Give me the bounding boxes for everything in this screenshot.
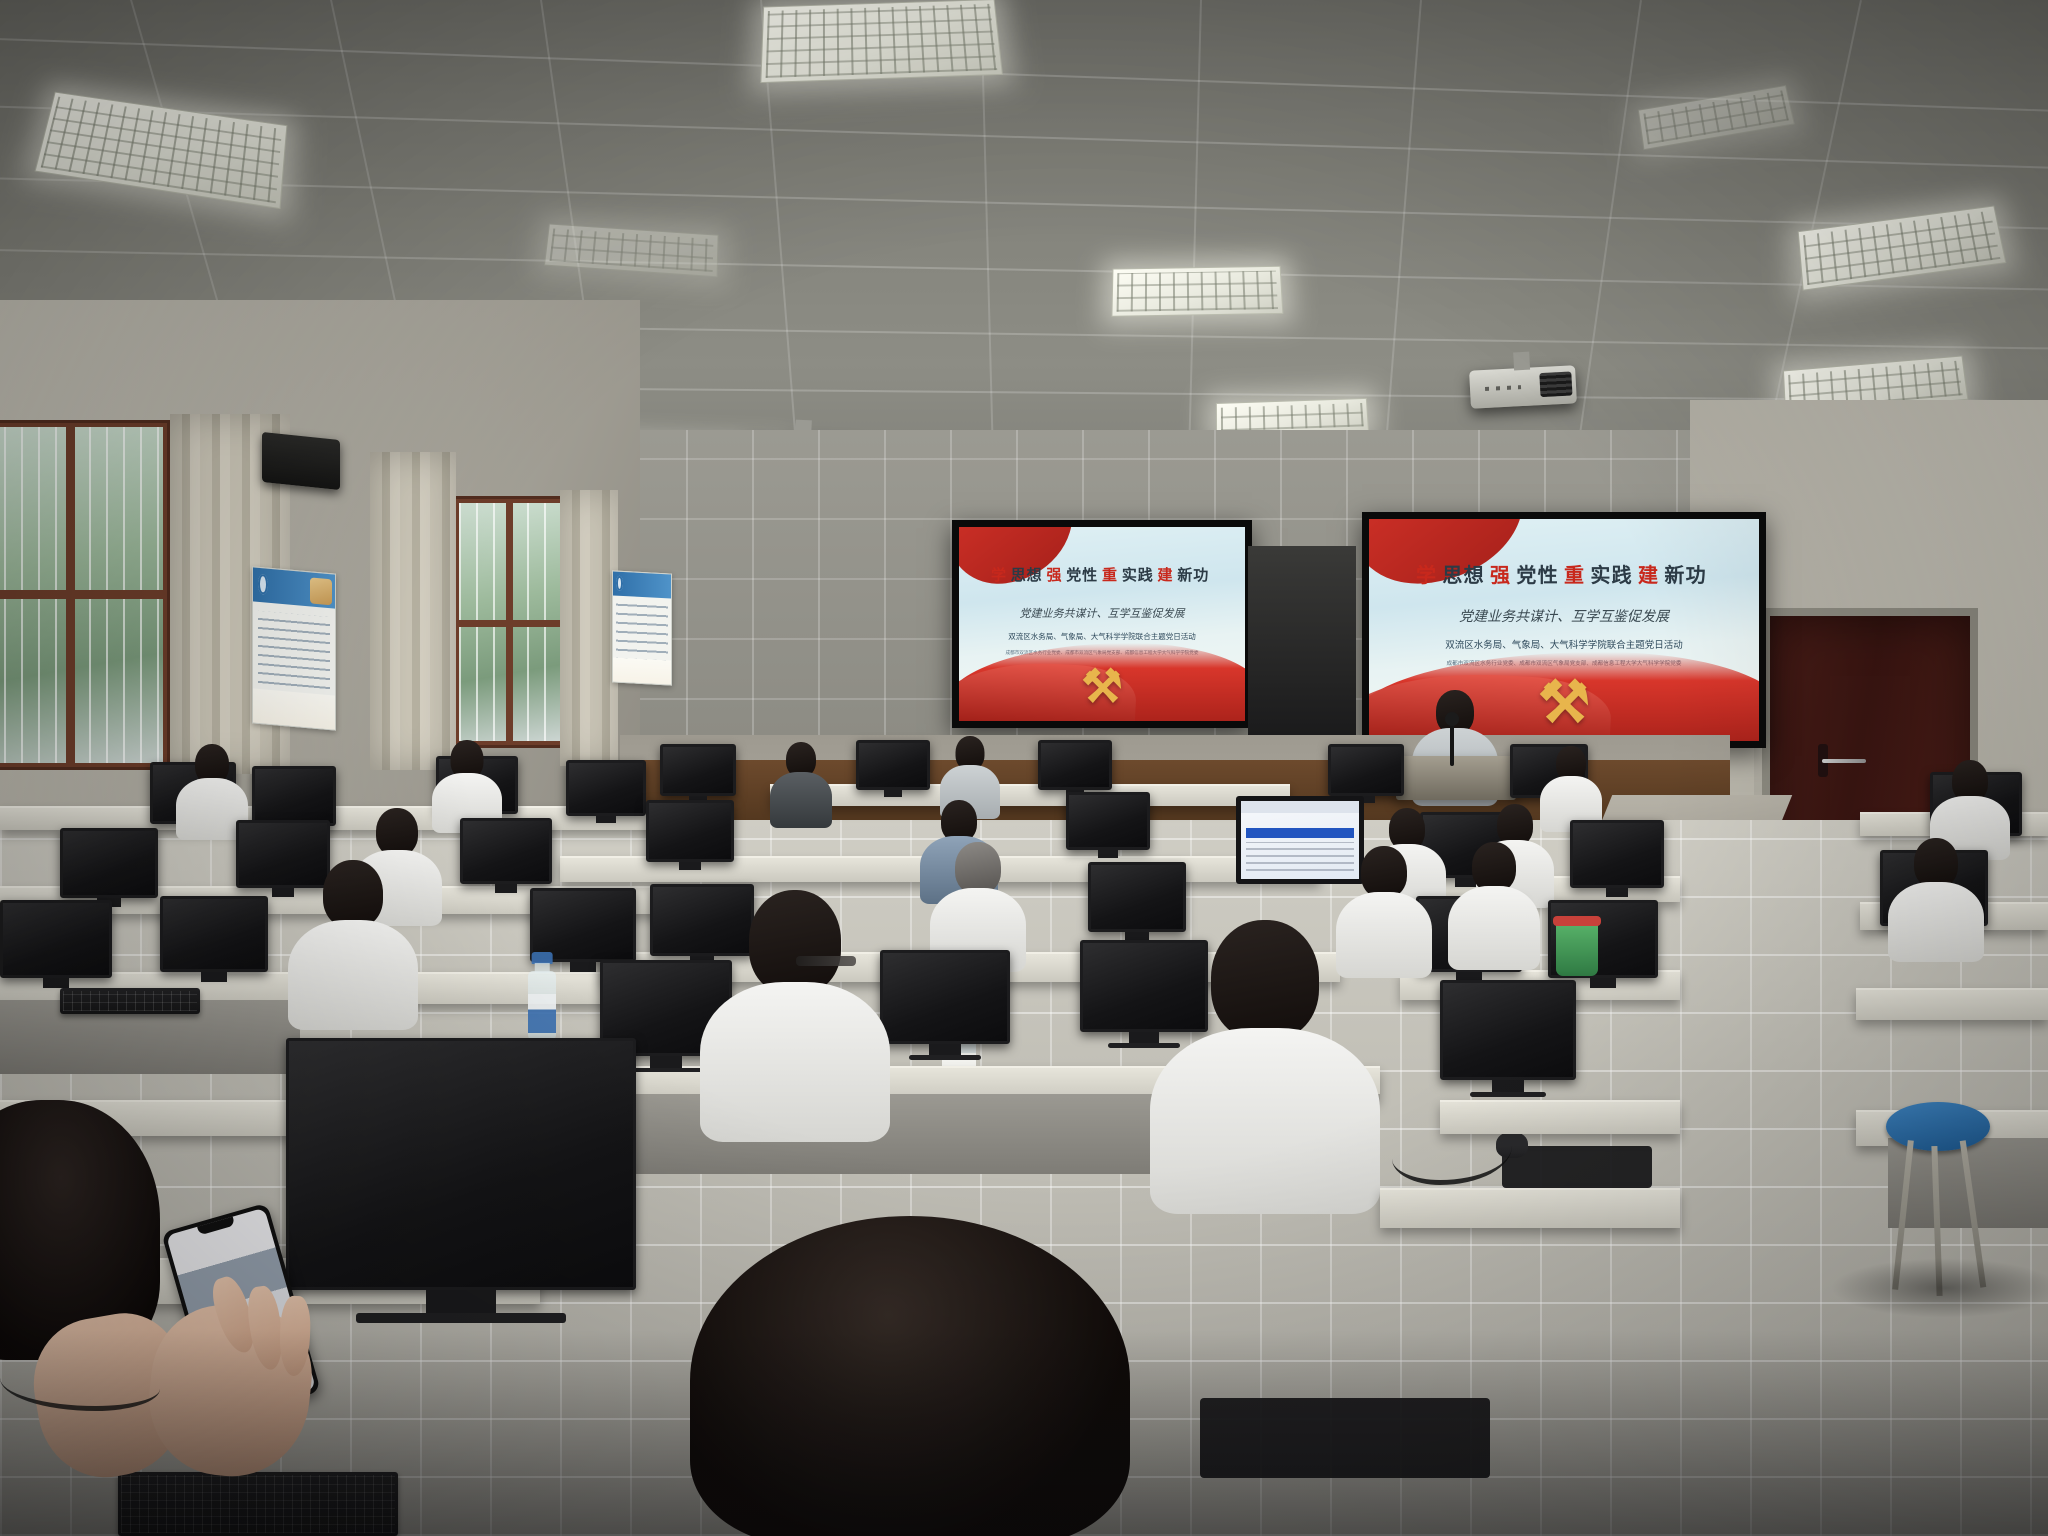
wall-poster bbox=[252, 566, 336, 730]
attendee bbox=[1888, 838, 1984, 954]
water-bottle bbox=[528, 952, 556, 1040]
headline-part-3: 党性 bbox=[1516, 563, 1558, 587]
monitor bbox=[1570, 820, 1664, 888]
monitor bbox=[460, 818, 552, 884]
attendee bbox=[700, 890, 890, 1130]
curtain bbox=[370, 452, 456, 770]
desk-row bbox=[1856, 988, 2048, 1020]
wall-speaker bbox=[262, 432, 340, 490]
monitor bbox=[286, 1038, 636, 1290]
monitor bbox=[1066, 792, 1150, 850]
headline-part-1: 思想 bbox=[1011, 566, 1043, 584]
microphone-head-icon bbox=[1445, 712, 1459, 726]
slide-left: 学 思想 强 党性 重 实践 建 新功 党建业务共谋计、互学互鉴促发展 双流区水… bbox=[959, 527, 1245, 721]
party-emblem-icon: ⚒ bbox=[1081, 663, 1122, 709]
headline-part-4: 重 bbox=[1102, 566, 1118, 584]
slide-calligraphy: 党建业务共谋计、互学互鉴促发展 bbox=[1369, 606, 1759, 626]
monitor bbox=[880, 950, 1010, 1044]
headline-part-5: 实践 bbox=[1122, 566, 1154, 584]
monitor bbox=[1328, 744, 1404, 796]
monitor bbox=[0, 900, 112, 978]
headline-part-5: 实践 bbox=[1590, 563, 1632, 587]
stool-seat bbox=[1886, 1102, 1990, 1151]
ceiling-projector bbox=[1469, 365, 1577, 408]
classroom-photo-scene: 学 思想 强 党性 重 实践 建 新功 党建业务共谋计、互学互鉴促发展 双流区水… bbox=[0, 0, 2048, 1536]
slide-calligraphy: 党建业务共谋计、互学互鉴促发展 bbox=[959, 605, 1245, 621]
headline-part-0: 学 bbox=[1416, 563, 1437, 587]
slide-event-line: 双流区水务局、气象局、大气科学学院联合主题党日活动 bbox=[1369, 637, 1759, 651]
attendee bbox=[288, 860, 418, 1020]
desk-row bbox=[1380, 1188, 1680, 1228]
floor-shadow bbox=[1830, 1258, 2048, 1318]
monitor bbox=[530, 888, 636, 962]
headline-part-2: 强 bbox=[1490, 563, 1511, 587]
slide-headline: 学 思想 强 党性 重 实践 建 新功 bbox=[959, 564, 1245, 585]
window bbox=[452, 496, 572, 748]
attendee bbox=[432, 740, 502, 830]
monitor bbox=[566, 760, 646, 816]
lectern bbox=[1396, 756, 1516, 800]
headline-part-7: 新功 bbox=[1177, 566, 1209, 584]
headline-part-6: 建 bbox=[1638, 563, 1659, 587]
monitor bbox=[646, 800, 734, 862]
headline-part-7: 新功 bbox=[1664, 563, 1706, 587]
keyboard[interactable] bbox=[60, 988, 200, 1014]
foreground-shading bbox=[0, 1330, 2048, 1536]
party-emblem-icon: ⚒ bbox=[1538, 674, 1590, 732]
ceiling-light bbox=[760, 0, 1003, 83]
attendee bbox=[930, 842, 1026, 962]
monitor bbox=[1440, 980, 1576, 1080]
eyeglasses-icon bbox=[796, 956, 856, 966]
attendee bbox=[1448, 842, 1540, 962]
curtain bbox=[560, 490, 618, 766]
attendee bbox=[1150, 920, 1380, 1200]
monitor bbox=[1038, 740, 1112, 790]
ceiling-light bbox=[1111, 266, 1283, 317]
window bbox=[0, 420, 170, 770]
monitor bbox=[660, 744, 736, 796]
attendee bbox=[770, 742, 832, 824]
cup-lid bbox=[1553, 916, 1600, 927]
headline-part-2: 强 bbox=[1046, 566, 1062, 584]
monitor bbox=[252, 766, 336, 826]
headline-part-0: 学 bbox=[991, 566, 1007, 584]
headline-part-6: 建 bbox=[1158, 566, 1174, 584]
headline-part-1: 思想 bbox=[1442, 563, 1484, 587]
door-handle[interactable] bbox=[1822, 759, 1866, 763]
center-pillar bbox=[1248, 546, 1356, 746]
slide-event-line: 双流区水务局、气象局、大气科学学院联合主题党日活动 bbox=[959, 631, 1245, 642]
headline-part-4: 重 bbox=[1564, 563, 1585, 587]
microphone bbox=[1450, 724, 1454, 766]
slide-headline: 学 思想 强 党性 重 实践 建 新功 bbox=[1369, 559, 1759, 588]
monitor bbox=[60, 828, 158, 898]
desk-row bbox=[770, 784, 1290, 806]
monitor bbox=[856, 740, 930, 790]
projection-screen-left: 学 思想 强 党性 重 实践 建 新功 党建业务共谋计、互学互鉴促发展 双流区水… bbox=[952, 520, 1252, 728]
headline-part-3: 党性 bbox=[1066, 566, 1098, 584]
green-cup bbox=[1556, 922, 1598, 976]
monitor bbox=[160, 896, 268, 972]
wall-poster bbox=[612, 570, 672, 685]
